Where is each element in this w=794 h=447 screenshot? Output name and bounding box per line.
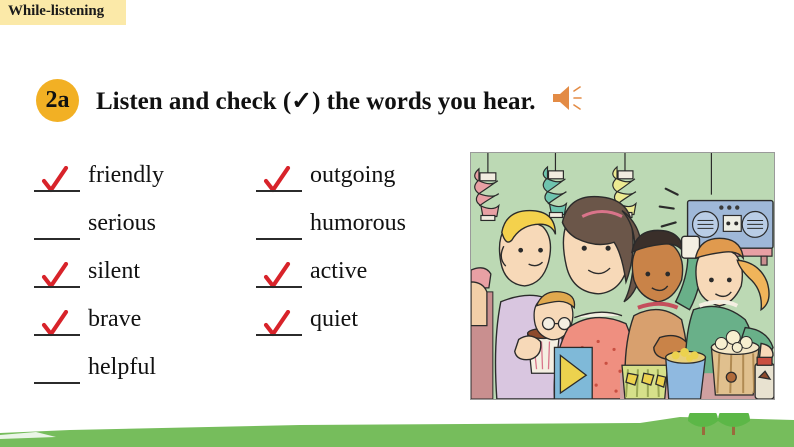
slide: While-listening 2a Listen and check (✓) … xyxy=(0,0,794,447)
exercise-title-row: 2a Listen and check (✓) the words you he… xyxy=(36,79,586,122)
checkmark-icon xyxy=(41,166,69,193)
checkmark-icon xyxy=(41,310,69,337)
exercise-instruction: Listen and check (✓) the words you hear. xyxy=(96,86,536,116)
checkbox-blank[interactable] xyxy=(34,258,80,288)
checkbox-blank[interactable] xyxy=(256,162,302,192)
checkbox-blank[interactable] xyxy=(34,354,80,384)
checkbox-blank[interactable] xyxy=(256,258,302,288)
checkmark-icon xyxy=(41,262,69,289)
checkmark-icon xyxy=(263,310,291,337)
section-header-band: While-listening xyxy=(0,0,126,25)
exercise-number-badge: 2a xyxy=(36,79,79,122)
word-label: active xyxy=(310,256,367,286)
word-row[interactable]: humorous xyxy=(256,208,406,256)
word-label: outgoing xyxy=(310,160,395,190)
word-row[interactable]: silent xyxy=(34,256,164,304)
word-label: humorous xyxy=(310,208,406,238)
word-label: silent xyxy=(88,256,140,286)
speaker-icon[interactable] xyxy=(550,83,586,118)
word-row[interactable]: quiet xyxy=(256,304,406,352)
word-row[interactable]: outgoing xyxy=(256,160,406,208)
word-label: serious xyxy=(88,208,156,238)
checkbox-blank[interactable] xyxy=(34,210,80,240)
word-row[interactable]: friendly xyxy=(34,160,164,208)
checkbox-blank[interactable] xyxy=(256,210,302,240)
word-label: helpful xyxy=(88,352,156,382)
checkbox-blank[interactable] xyxy=(256,306,302,336)
word-column-right: outgoinghumorousactivequiet xyxy=(256,160,406,352)
checkbox-blank[interactable] xyxy=(34,162,80,192)
section-header-label: While-listening xyxy=(8,3,104,20)
checkmark-icon xyxy=(263,166,291,193)
word-row[interactable]: active xyxy=(256,256,406,304)
word-row[interactable]: helpful xyxy=(34,352,164,400)
word-row[interactable]: serious xyxy=(34,208,164,256)
checkmark-icon xyxy=(263,262,291,289)
word-label: brave xyxy=(88,304,141,334)
checkbox-blank[interactable] xyxy=(34,306,80,336)
word-label: quiet xyxy=(310,304,358,334)
word-column-left: friendlyserioussilentbravehelpful xyxy=(34,160,164,400)
word-row[interactable]: brave xyxy=(34,304,164,352)
party-scene-illustration xyxy=(470,152,775,400)
word-label: friendly xyxy=(88,160,164,190)
bottom-decoration xyxy=(0,413,794,447)
